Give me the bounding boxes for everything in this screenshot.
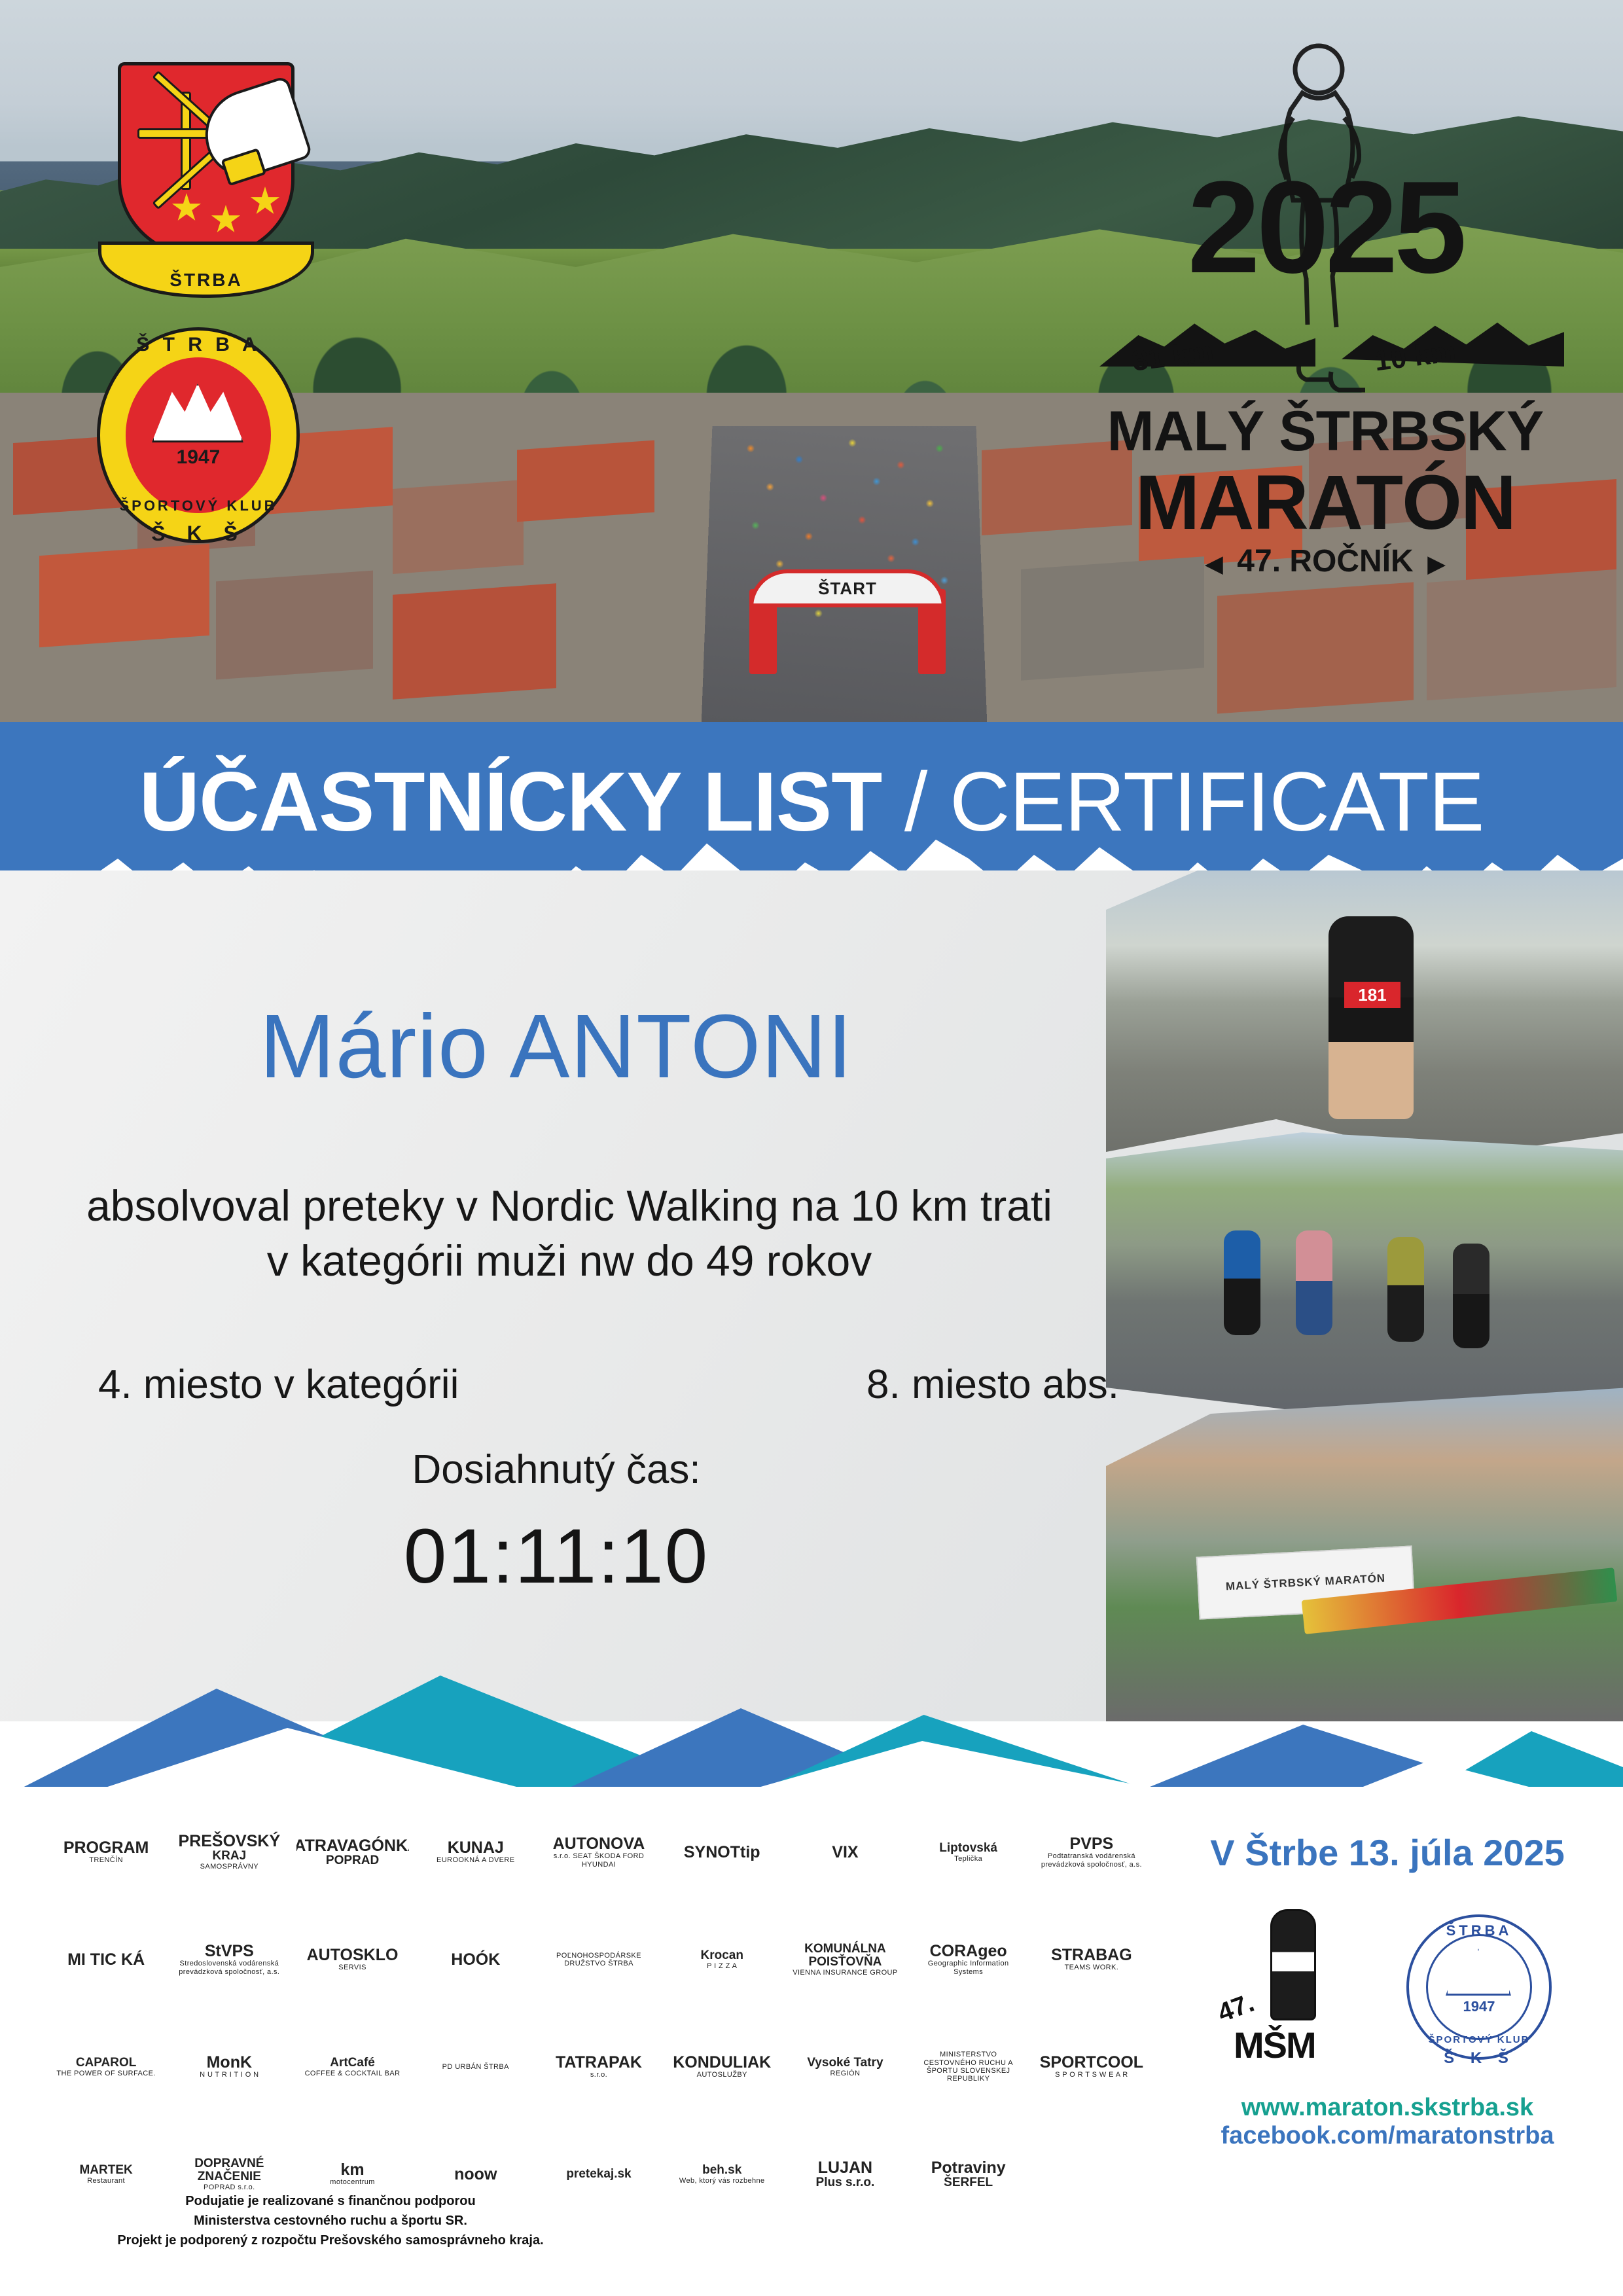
- race-year: 2025: [1067, 177, 1584, 279]
- sponsor-logo: CAPAROLTHE POWER OF SURFACE.: [50, 2021, 162, 2113]
- photo-finish-man: MALÝ ŠTRBSKÝ MARATÓN: [1106, 1388, 1623, 1721]
- sponsor-primary-text: Potraviny: [931, 2160, 1006, 2176]
- header-photo: ŠTART ŠTRBA Š T R B A 1947 ŠPORTOVÝ KLUB…: [0, 0, 1623, 733]
- sponsor-primary-text: TATRAPAK: [556, 2054, 642, 2071]
- sponsor-logo: MINISTERSTVO CESTOVNÉHO RUCHU A ŠPORTU S…: [912, 2021, 1025, 2113]
- description-line-1: absolvoval preteky v Nordic Walking na 1…: [0, 1178, 1139, 1233]
- sponsor-logo: PREŠOVSKÝKRAJSAMOSPRÁVNY: [173, 1806, 285, 1898]
- sponsor-primary-text: STRABAG: [1051, 1947, 1132, 1964]
- sponsor-tagline: SERVIS: [338, 1964, 366, 1971]
- sponsor-secondary-text: beh.sk: [702, 2164, 741, 2177]
- sponsor-logo: KOMUNÁLNA POISŤOVŇAVIENNA INSURANCE GROU…: [789, 1914, 901, 2005]
- sponsor-logo: MI TIC KÁ: [50, 1914, 162, 2005]
- sponsor-primary-text: TATRAVAGÓNKA: [296, 1838, 409, 1854]
- sponsor-secondary-text: ŠERFEL: [944, 2176, 993, 2189]
- sponsor-primary-text: KONDULIAK: [673, 2054, 771, 2071]
- time-label: Dosiahnutý čas:: [0, 1446, 1113, 1493]
- sponsor-logo: StVPSStredoslovenská vodárenská prevádzk…: [173, 1914, 285, 2005]
- sponsor-tagline: TRENČÍN: [89, 1856, 123, 1864]
- sponsor-tagline: P I Z Z A: [707, 1962, 737, 1970]
- runner-figure: [1296, 1230, 1332, 1335]
- sponsor-logo: MonKN U T R I T I O N: [173, 2021, 285, 2113]
- place-in-category: 4. miesto v kategórii: [98, 1361, 459, 1408]
- roof: [393, 480, 524, 574]
- roof: [393, 583, 556, 699]
- sponsor-primary-text: PVPS: [1070, 1836, 1114, 1852]
- sponsor-primary-text: StVPS: [205, 1943, 254, 1960]
- support-note-line-3: Projekt je podporený z rozpočtu Prešovsk…: [72, 2231, 589, 2250]
- sponsor-primary-text: PREŠOVSKÝ: [179, 1833, 281, 1850]
- sponsor-tagline: REGIÓN: [830, 2070, 861, 2077]
- sponsor-primary-text: PROGRAM: [63, 1840, 149, 1856]
- start-arch-label: ŠTART: [749, 569, 946, 607]
- sponsor-tagline: POPRAD s.r.o.: [204, 2183, 255, 2191]
- sponsor-logo: SPORTCOOLS P O R T S W E A R: [1035, 2021, 1148, 2113]
- sponsor-primary-text: LUJAN: [818, 2160, 872, 2176]
- stamp-middle-text: ŠPORTOVÝ KLUB: [1397, 2034, 1561, 2045]
- sponsor-tagline: VIENNA INSURANCE GROUP: [793, 1969, 897, 1977]
- msm-wordmark: MŠM: [1234, 2024, 1315, 2066]
- sponsor-logo: KrocanP I Z Z A: [666, 1914, 778, 2005]
- sponsor-primary-text: MI TIC KÁ: [67, 1952, 145, 1968]
- sponsor-tagline: EUROOKNÁ A DVERE: [437, 1856, 515, 1864]
- banner-title: ÚČASTNÍCKY LIST / CERTIFICATE: [139, 754, 1484, 850]
- sponsor-primary-text: CORAgeo: [930, 1943, 1007, 1960]
- msm-edition: 47.: [1214, 1988, 1258, 2028]
- sponsor-logo: PROGRAMTRENČÍN: [50, 1806, 162, 1898]
- sponsor-logo: HOÓK: [419, 1914, 532, 2005]
- sponsor-primary-text: AUTOSKLO: [307, 1947, 399, 1964]
- sponsor-tagline: AUTOSLUŽBY: [697, 2071, 747, 2079]
- stamp-bottom-text: Š K Š: [1397, 2049, 1561, 2068]
- sks-year: 1947: [97, 446, 300, 469]
- sponsor-tagline: N U T R I T I O N: [200, 2071, 259, 2079]
- sponsor-logo: PD URBÁN ŠTRBA: [419, 2021, 532, 2113]
- sponsor-secondary-text: KOMUNÁLNA POISŤOVŇA: [790, 1943, 900, 1969]
- sponsor-tagline: SAMOSPRÁVNY: [200, 1863, 259, 1871]
- sponsor-secondary-text: pretekaj.sk: [566, 2168, 631, 2181]
- sponsor-tagline: motocentrum: [330, 2178, 375, 2186]
- sponsor-logo: LiptovskáTeplička: [912, 1806, 1025, 1898]
- sponsor-tagline: Geographic Information Systems: [914, 1960, 1024, 1976]
- facebook-link[interactable]: facebook.com/maratonstrba: [1178, 2122, 1597, 2150]
- sponsor-secondary-text: Liptovská: [939, 1842, 997, 1855]
- coa-ribbon-label: ŠTRBA: [98, 242, 314, 298]
- runner-figure: [1224, 1230, 1260, 1335]
- runner-figure: [1329, 916, 1414, 1119]
- sponsor-primary-text: SYNOTtip: [684, 1844, 760, 1861]
- race-title-line1: MALÝ ŠTRBSKÝ: [1067, 399, 1584, 464]
- sponsor-tagline: Stredoslovenská vodárenská prevádzková s…: [174, 1960, 284, 1976]
- sponsor-logo: KUNAJEUROOKNÁ A DVERE: [419, 1806, 532, 1898]
- sponsor-tagline: COFFEE & COCKTAIL BAR: [305, 2070, 401, 2077]
- sponsor-logo: TATRAVAGÓNKAPOPRAD: [296, 1806, 409, 1898]
- start-arch: ŠTART: [749, 569, 946, 674]
- sponsor-logo: STRABAGTEAMS WORK.: [1035, 1914, 1148, 2005]
- footer-logos: 47. MŠM ŠTRBA 1947 ŠPORTOVÝ KLUB Š K Š: [1178, 1905, 1597, 2069]
- support-note: Podujatie je realizované s finančnou pod…: [72, 2191, 589, 2250]
- photo-collage: 181 MALÝ ŠTRBSKÝ MARATÓN: [1106, 870, 1623, 1721]
- sponsor-logo: beh.skWeb, ktorý vás rozbehne: [666, 2128, 778, 2220]
- sponsor-primary-text: VIX: [832, 1844, 858, 1861]
- sponsor-tagline: MINISTERSTVO CESTOVNÉHO RUCHU A ŠPORTU S…: [914, 2051, 1024, 2083]
- placement-row: 4. miesto v kategórii 8. miesto abs.: [98, 1361, 1119, 1408]
- sponsor-logo: Vysoké TatryREGIÓN: [789, 2021, 901, 2113]
- sponsor-logo: PotravinyŠERFEL: [912, 2128, 1025, 2220]
- sponsor-tagline: Podtatranská vodárenská prevádzková spol…: [1037, 1852, 1147, 1869]
- sponsor-logo: AUTOSKLOSERVIS: [296, 1914, 409, 2005]
- sks-bottom-text: Š K Š: [97, 522, 300, 546]
- sponsor-footer: PROGRAMTRENČÍNPREŠOVSKÝKRAJSAMOSPRÁVNYTA…: [0, 1787, 1623, 2296]
- sponsor-secondary-text: Plus s.r.o.: [816, 2176, 875, 2189]
- sponsor-secondary-text: Vysoké Tatry: [807, 2056, 883, 2070]
- photo-finish-woman: 181: [1106, 870, 1623, 1158]
- sponsor-secondary-text: Krocan: [700, 1949, 743, 1962]
- stamp-top-text: ŠTRBA: [1397, 1922, 1561, 1939]
- sponsor-tagline: S P O R T S W E A R: [1055, 2071, 1128, 2079]
- sponsor-secondary-text: MARTEK: [79, 2164, 132, 2177]
- banner-title-light: / CERTIFICATE: [882, 755, 1484, 849]
- sponsor-tagline: Teplička: [954, 1855, 982, 1863]
- sponsor-tagline: s.r.o.: [590, 2071, 607, 2079]
- sponsor-primary-text: SPORTCOOL: [1040, 2054, 1143, 2071]
- sponsor-tagline: Restaurant: [87, 2177, 125, 2185]
- sponsor-logo: VIX: [789, 1806, 901, 1898]
- sponsor-primary-text: AUTONOVA: [553, 1836, 645, 1852]
- sks-middle-text: ŠPORTOVÝ KLUB: [97, 497, 300, 514]
- sponsor-secondary-text: CAPAROL: [76, 2056, 137, 2070]
- runner-figure: [1453, 1244, 1489, 1348]
- sponsor-logo: POĽNOHOSPODÁRSKE DRUŽSTVO ŠTRBA: [543, 1914, 655, 2005]
- sponsor-logo: TATRAPAKs.r.o.: [543, 2021, 655, 2113]
- sponsor-tagline: THE POWER OF SURFACE.: [56, 2070, 155, 2077]
- sponsor-tagline: POĽNOHOSPODÁRSKE DRUŽSTVO ŠTRBA: [544, 1952, 654, 1968]
- sks-club-stamp: ŠTRBA 1947 ŠPORTOVÝ KLUB Š K Š: [1397, 1905, 1561, 2069]
- sponsor-logo: PVPSPodtatranská vodárenská prevádzková …: [1035, 1806, 1148, 1898]
- sks-top-text: Š T R B A: [97, 334, 300, 356]
- bib-number: 181: [1344, 982, 1400, 1008]
- support-note-line-1: Podujatie je realizované s finančnou pod…: [72, 2191, 589, 2211]
- footer-right-column: V Štrbe 13. júla 2025 47. MŠM ŠTRBA 1947…: [1178, 1793, 1597, 2150]
- sponsor-logo-grid: PROGRAMTRENČÍNPREŠOVSKÝKRAJSAMOSPRÁVNYTA…: [46, 1800, 1152, 2227]
- sponsor-primary-text: km: [340, 2162, 364, 2178]
- msm-logo: 47. MŠM: [1214, 1905, 1358, 2069]
- sponsor-logo: CORAgeoGeographic Information Systems: [912, 1914, 1025, 2005]
- msm-runner-icon: [1270, 1909, 1316, 2020]
- sponsor-logo: ArtCaféCOFFEE & COCKTAIL BAR: [296, 2021, 409, 2113]
- roof: [517, 440, 654, 522]
- participant-name: Mário ANTONI: [0, 995, 1113, 1099]
- sponsor-secondary-text: ArtCafé: [330, 2056, 375, 2070]
- sponsor-secondary-text: DOPRAVNÉ ZNAČENIE: [174, 2157, 284, 2183]
- sponsor-logo: KONDULIAKAUTOSLUŽBY: [666, 2021, 778, 2113]
- date-and-place: V Štrbe 13. júla 2025: [1178, 1831, 1597, 1874]
- sponsor-secondary-text: POPRAD: [326, 1854, 379, 1867]
- sponsor-primary-text: HOÓK: [451, 1952, 500, 1968]
- race-edition: 47. ROČNÍK: [1067, 543, 1584, 579]
- finish-time: 01:11:10: [0, 1512, 1113, 1601]
- description-line-2: v kategórii muži nw do 49 rokov: [0, 1233, 1139, 1288]
- runner-figure: [1387, 1237, 1424, 1342]
- certificate-description: absolvoval preteky v Nordic Walking na 1…: [0, 1178, 1139, 1289]
- sponsor-primary-text: MonK: [207, 2054, 252, 2071]
- support-note-line-2: Ministerstva cestovného ruchu a športu S…: [72, 2211, 589, 2231]
- place-absolute: 8. miesto abs.: [866, 1361, 1119, 1408]
- sponsor-logo: SYNOTtip: [666, 1806, 778, 1898]
- sponsor-secondary-text: KRAJ: [212, 1850, 246, 1863]
- sponsor-primary-text: KUNAJ: [448, 1840, 504, 1856]
- roof: [39, 544, 209, 647]
- photo-runners-hill: [1106, 1132, 1623, 1414]
- sponsor-logo: AUTONOVAs.r.o. SEAT ŠKODA FORD HYUNDAI: [543, 1806, 655, 1898]
- sponsor-tagline: TEAMS WORK.: [1065, 1964, 1119, 1971]
- sponsor-primary-text: noow: [454, 2166, 497, 2183]
- sks-club-badge: Š T R B A 1947 ŠPORTOVÝ KLUB Š K Š: [97, 327, 300, 543]
- sponsor-tagline: s.r.o. SEAT ŠKODA FORD HYUNDAI: [544, 1852, 654, 1869]
- strba-coat-of-arms: ŠTRBA: [98, 62, 314, 304]
- roof: [216, 571, 373, 680]
- sponsor-tagline: Web, ktorý vás rozbehne: [679, 2177, 765, 2185]
- sponsor-logo: LUJANPlus s.r.o.: [789, 2128, 901, 2220]
- race-logo: 2025 31 km 10 km MALÝ ŠTRBSKÝ MARATÓN 47…: [1067, 33, 1584, 609]
- sponsor-tagline: PD URBÁN ŠTRBA: [442, 2063, 509, 2071]
- race-title-line2: MARATÓN: [1067, 458, 1584, 547]
- stamp-year: 1947: [1397, 1998, 1561, 2015]
- website-link[interactable]: www.maraton.skstrba.sk: [1178, 2094, 1597, 2122]
- banner-title-bold: ÚČASTNÍCKY LIST: [139, 755, 882, 849]
